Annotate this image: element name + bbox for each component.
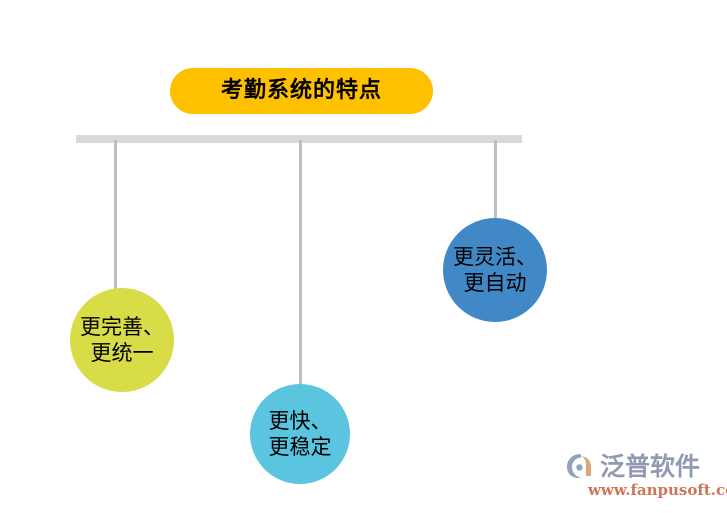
bubble-faster: 更快、 更稳定	[250, 384, 350, 484]
page-title: 考勤系统的特点	[221, 80, 382, 102]
bubble-label-1: 更完善、 更统一	[80, 314, 164, 367]
bubble-label-2: 更快、 更稳定	[269, 408, 332, 461]
connector-line-3	[494, 140, 497, 220]
fanpu-logo-icon	[566, 452, 596, 480]
slide-canvas: 考勤系统的特点 更完善、 更统一 更快、 更稳定 更灵活、 更自动 泛普软件 w…	[0, 0, 727, 513]
title-pill: 考勤系统的特点	[170, 68, 433, 114]
bubble-label-3: 更灵活、 更自动	[453, 244, 537, 297]
watermark: 泛普软件 www.fanpusoft.com	[566, 452, 721, 504]
watermark-brand: 泛普软件	[600, 454, 700, 479]
connector-line-1	[114, 140, 117, 290]
bubble-more-complete: 更完善、 更统一	[70, 288, 174, 392]
watermark-url: www.fanpusoft.com	[588, 483, 727, 498]
bubble-more-flexible: 更灵活、 更自动	[443, 218, 547, 322]
watermark-row: 泛普软件	[566, 452, 700, 480]
connector-line-2	[299, 140, 302, 385]
